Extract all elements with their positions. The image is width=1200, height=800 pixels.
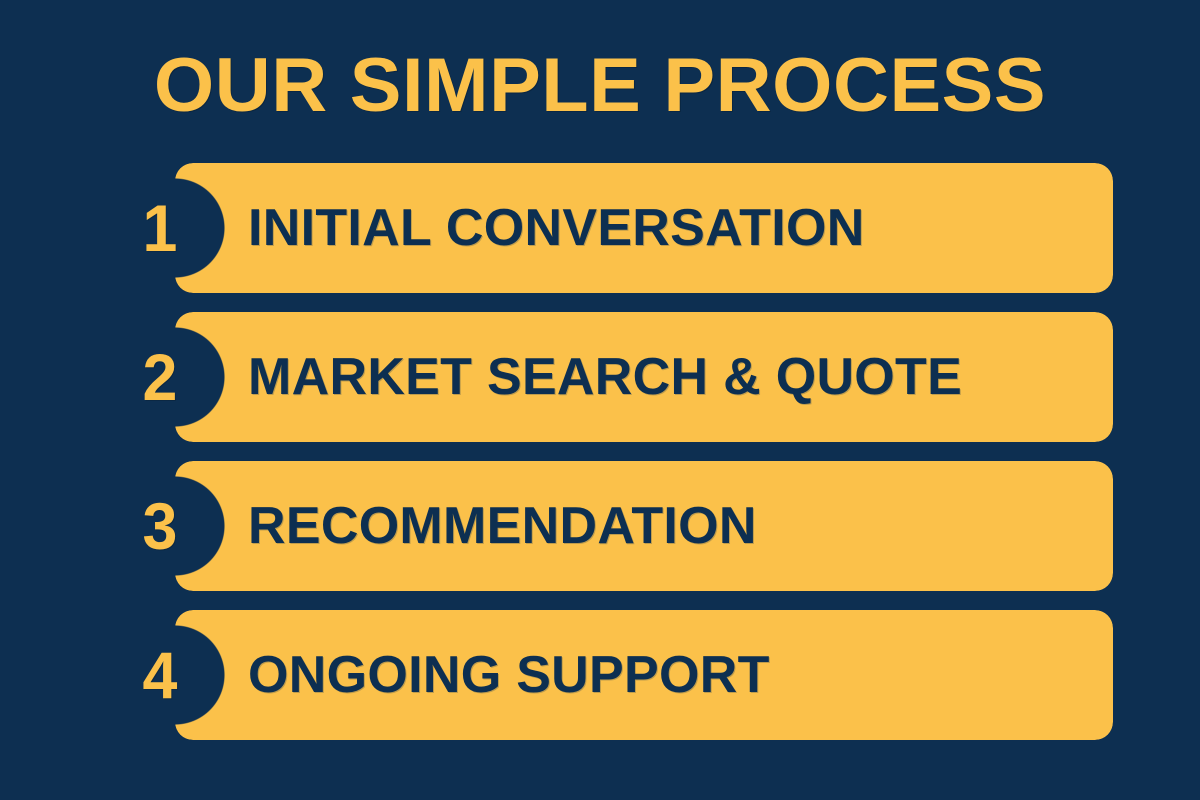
process-step-4[interactable]: 4 ONGOING SUPPORT <box>0 610 1200 740</box>
page-title: OUR SIMPLE PROCESS <box>0 46 1200 126</box>
process-infographic: OUR SIMPLE PROCESS 1 INITIAL CONVERSATIO… <box>0 0 1200 800</box>
step-label-2: MARKET SEARCH & QUOTE <box>248 312 962 442</box>
step-label-3: RECOMMENDATION <box>248 461 757 591</box>
step-label-4: ONGOING SUPPORT <box>248 610 770 740</box>
process-steps-list: 1 INITIAL CONVERSATION 2 MARKET SEARCH &… <box>0 163 1200 759</box>
process-step-3[interactable]: 3 RECOMMENDATION <box>0 461 1200 591</box>
process-step-1[interactable]: 1 INITIAL CONVERSATION <box>0 163 1200 293</box>
process-step-2[interactable]: 2 MARKET SEARCH & QUOTE <box>0 312 1200 442</box>
step-label-1: INITIAL CONVERSATION <box>248 163 865 293</box>
